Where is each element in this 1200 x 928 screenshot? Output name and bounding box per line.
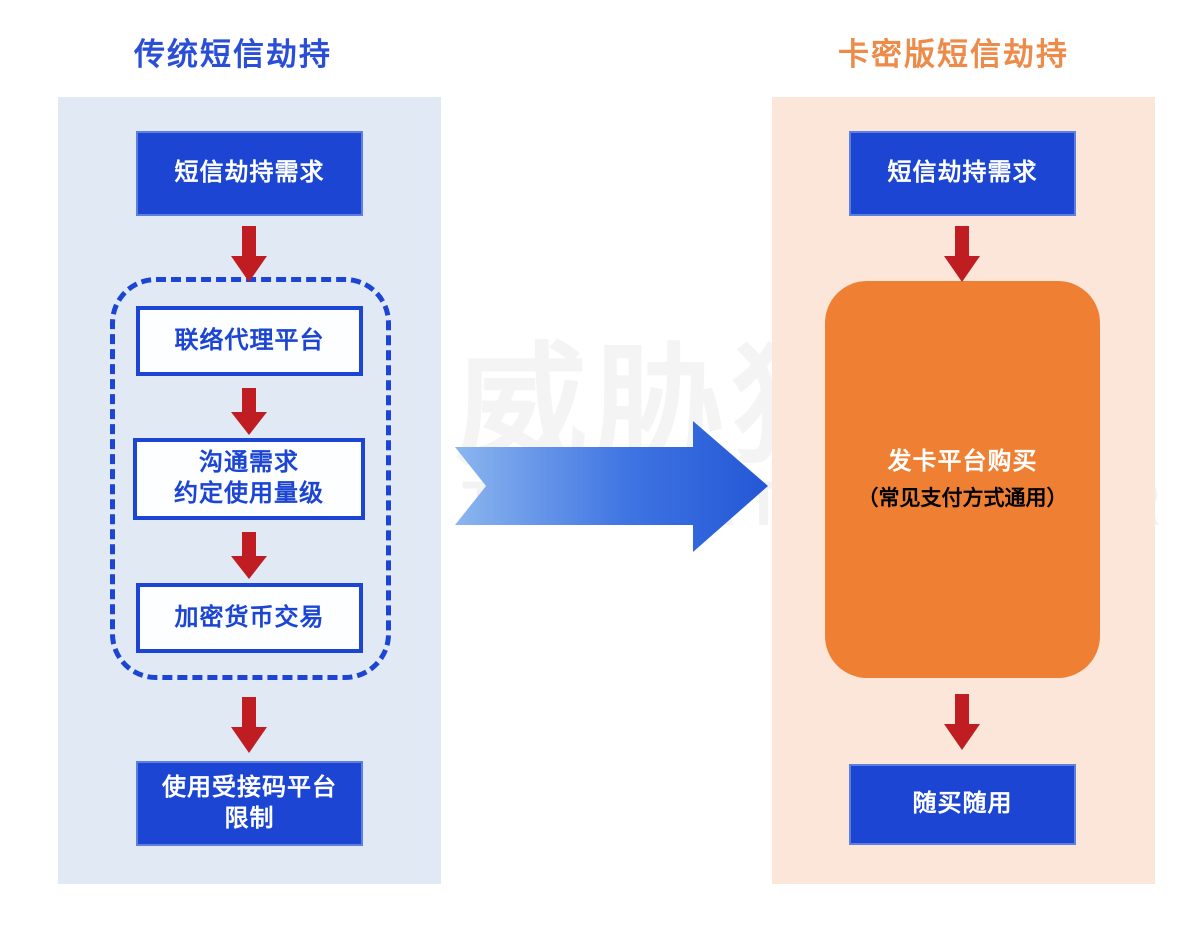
node-sms-hijack-demand-left[interactable]: 短信劫持需求 xyxy=(136,131,363,216)
node-buy-and-use-anytime[interactable]: 随买随用 xyxy=(849,764,1076,845)
node-crypto-transaction[interactable]: 加密货币交易 xyxy=(136,583,363,653)
node-label: 短信劫持需求 xyxy=(888,158,1038,189)
node-label: 短信劫持需求 xyxy=(175,158,325,189)
arrow-down-icon xyxy=(224,532,274,579)
node-negotiate-usage-volume[interactable]: 沟通需求 约定使用量级 xyxy=(133,438,365,520)
arrow-down-icon xyxy=(937,694,987,750)
node-label: 联络代理平台 xyxy=(175,326,325,357)
arrow-down-icon xyxy=(224,388,274,435)
node-label: 加密货币交易 xyxy=(175,603,325,634)
arrow-down-icon xyxy=(224,226,274,282)
node-sms-hijack-demand-right[interactable]: 短信劫持需求 xyxy=(849,131,1076,216)
arrow-down-icon xyxy=(937,226,987,282)
node-label: 使用受接码平台 限制 xyxy=(162,773,337,834)
node-contact-agent-platform[interactable]: 联络代理平台 xyxy=(136,306,363,376)
arrow-right-icon xyxy=(455,421,768,552)
arrow-down-icon xyxy=(224,697,274,753)
node-label-wrap: 发卡平台购买 （常见支付方式通用） xyxy=(858,447,1068,512)
node-sublabel: （常见支付方式通用） xyxy=(858,482,1068,512)
node-label: 发卡平台购买 xyxy=(888,448,1038,475)
left-panel-title: 传统短信劫持 xyxy=(134,29,332,74)
diagram-canvas: 威胁猎人 THREAT HUNTER 传统短信劫持 卡密版短信劫持 短信劫持需求… xyxy=(0,0,1200,928)
node-card-platform-purchase[interactable]: 发卡平台购买 （常见支付方式通用） xyxy=(825,281,1100,678)
node-label: 沟通需求 约定使用量级 xyxy=(174,448,324,509)
node-label: 随买随用 xyxy=(913,789,1013,820)
node-platform-restricted-usage[interactable]: 使用受接码平台 限制 xyxy=(136,761,363,846)
right-panel-title: 卡密版短信劫持 xyxy=(838,29,1069,74)
